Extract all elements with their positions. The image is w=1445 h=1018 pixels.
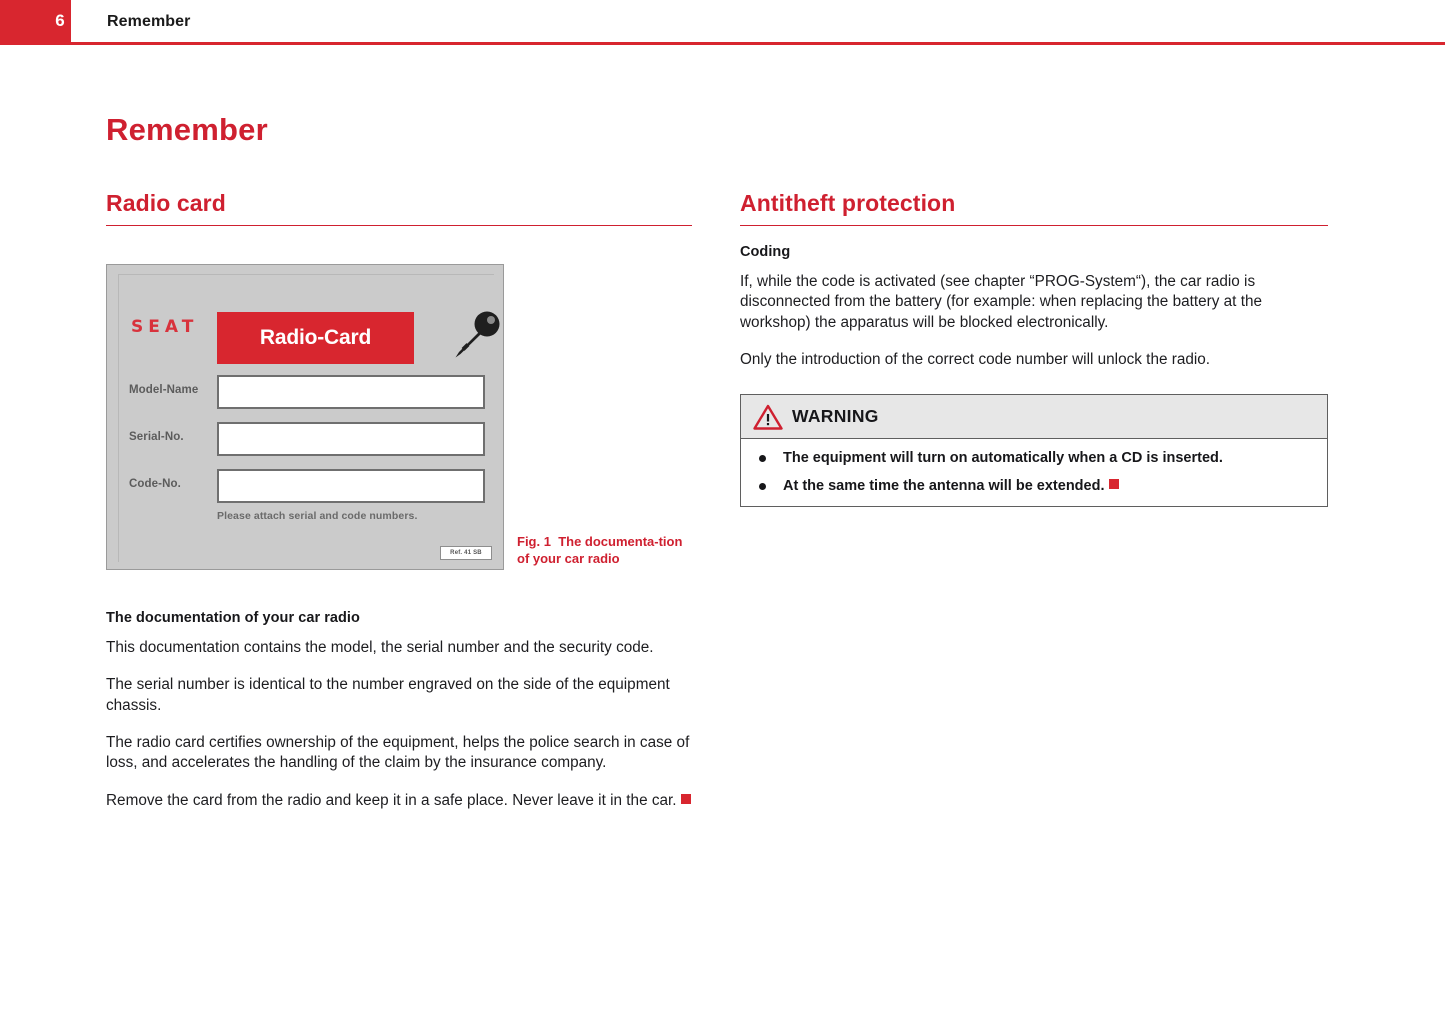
card-field-label: Code-No. xyxy=(129,478,219,490)
warning-triangle-icon xyxy=(753,404,783,430)
page-title: Remember xyxy=(106,112,268,148)
card-field-label: Serial-No. xyxy=(129,431,219,443)
sub-heading-coding: Coding xyxy=(740,244,1328,260)
figure-caption: Fig. 1 The documenta-tion of your car ra… xyxy=(517,534,695,568)
paragraph: If, while the code is activated (see cha… xyxy=(740,272,1328,333)
header-divider xyxy=(0,42,1445,45)
warning-title: WARNING xyxy=(792,406,879,427)
warning-box-header: WARNING xyxy=(741,395,1327,439)
warning-item-text: At the same time the antenna will be ext… xyxy=(783,478,1105,494)
card-note: Please attach serial and code numbers. xyxy=(217,510,417,522)
paragraph-with-end-marker: Remove the card from the radio and keep … xyxy=(106,791,694,811)
radio-card-image: SEAT Radio-Card Model-Name Serial-No. xyxy=(106,264,504,570)
section-divider-left xyxy=(106,225,692,226)
bullet-icon xyxy=(759,455,766,462)
warning-list-item: The equipment will turn on automatically… xyxy=(753,449,1315,467)
section-end-marker-icon xyxy=(681,794,691,804)
card-field-label: Model-Name xyxy=(129,384,219,396)
sub-heading-documentation: The documentation of your car radio xyxy=(106,610,694,626)
paragraph: The radio card certifies ownership of th… xyxy=(106,733,694,774)
paragraph-text: Remove the card from the radio and keep … xyxy=(106,792,677,809)
card-field-code-no: Code-No. xyxy=(129,469,485,505)
figure-radio-card: SEAT Radio-Card Model-Name Serial-No. xyxy=(106,264,506,572)
section-heading-radio-card: Radio card xyxy=(106,190,692,225)
seat-logo-text: SEAT xyxy=(131,317,198,337)
paragraph: Only the introduction of the correct cod… xyxy=(740,350,1328,370)
card-reference-tag-text: Ref. 41 SB xyxy=(441,547,491,559)
page-number: 6 xyxy=(0,0,65,42)
card-field-model-name: Model-Name xyxy=(129,375,485,411)
paragraph: This documentation contains the model, t… xyxy=(106,638,694,658)
radio-card-banner-text: Radio-Card xyxy=(217,312,414,364)
card-field-input[interactable] xyxy=(217,422,485,456)
left-column: Radio card xyxy=(106,190,692,244)
warning-box-body: The equipment will turn on automatically… xyxy=(741,439,1327,505)
card-field-input[interactable] xyxy=(217,469,485,503)
bullet-icon xyxy=(759,483,766,490)
left-text-block: The documentation of your car radio This… xyxy=(106,610,694,811)
page-header: 6 Remember xyxy=(0,0,1445,45)
card-field-serial-no: Serial-No. xyxy=(129,422,485,458)
warning-box: WARNING The equipment will turn on autom… xyxy=(740,394,1328,506)
warning-item-text-with-end-marker: At the same time the antenna will be ext… xyxy=(783,477,1315,495)
radio-card-banner: Radio-Card xyxy=(217,312,414,364)
key-icon xyxy=(447,307,505,363)
card-reference-tag: Ref. 41 SB xyxy=(440,546,492,560)
right-column: Antitheft protection Coding If, while th… xyxy=(740,190,1328,507)
paragraph: The serial number is identical to the nu… xyxy=(106,675,694,716)
warning-list-item: At the same time the antenna will be ext… xyxy=(753,477,1315,495)
section-heading-antitheft-protection: Antitheft protection xyxy=(740,190,1328,225)
warning-item-text: The equipment will turn on automatically… xyxy=(783,449,1315,467)
figure-caption-label: Fig. 1 xyxy=(517,534,551,549)
section-end-marker-icon xyxy=(1109,479,1119,489)
section-divider-right xyxy=(740,225,1328,226)
card-field-input[interactable] xyxy=(217,375,485,409)
chapter-title: Remember xyxy=(107,0,191,42)
